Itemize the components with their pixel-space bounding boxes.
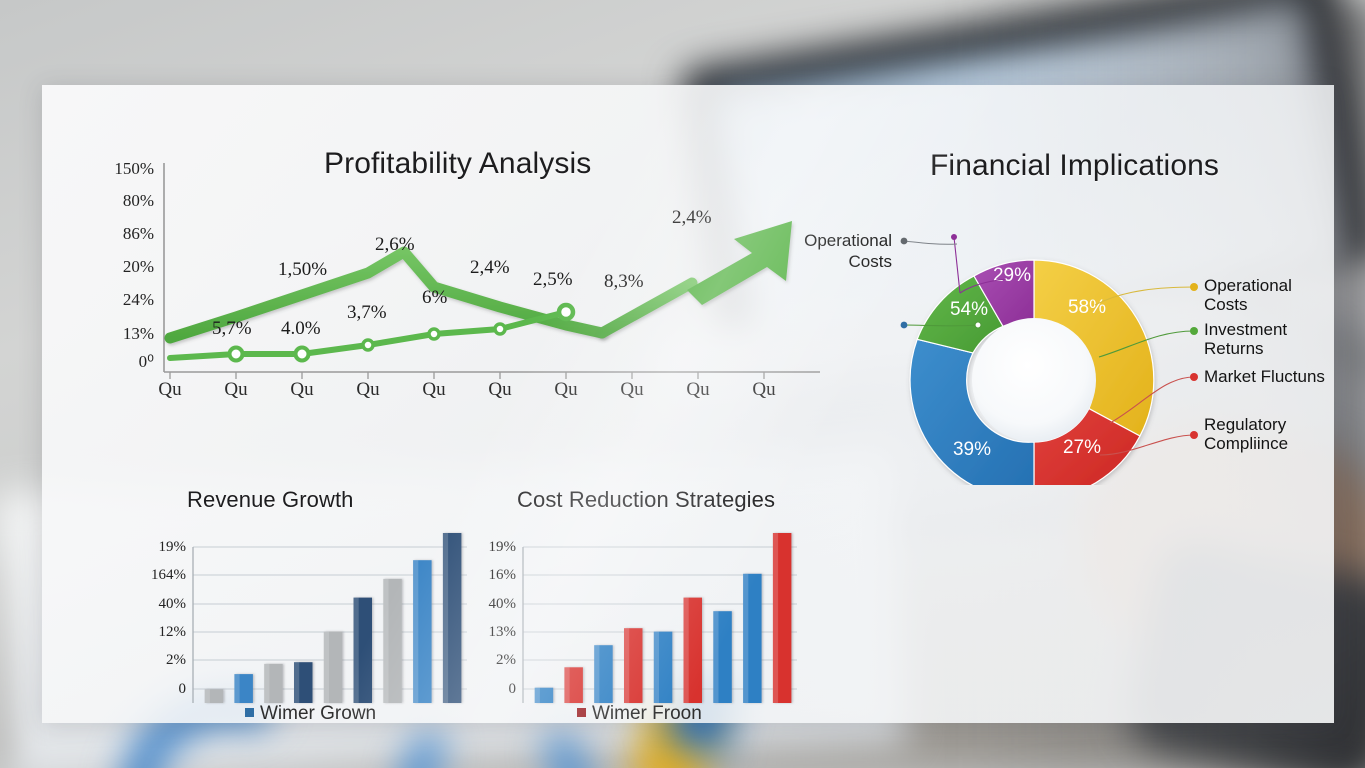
cost-reduction-bar-chart: Cost Reduction Strategies 19% 16% 40% 13…	[467, 485, 847, 725]
cost-reduction-plot-area	[467, 485, 847, 725]
cost-legend[interactable]: Wimer Froon	[577, 703, 702, 725]
cost-bar-highlight-2	[564, 667, 569, 703]
line-xtick-3: Qu	[344, 379, 392, 401]
revenue-bar-highlight-4	[294, 662, 299, 703]
revenue-bar-highlight-5	[324, 632, 329, 703]
donut-legend-label-1b: Costs	[1204, 295, 1247, 314]
cost-bars	[535, 533, 792, 703]
donut-callout-line1: Operational	[804, 231, 892, 250]
revenue-legend-swatch	[245, 708, 254, 717]
revenue-bar-highlight-8	[413, 560, 418, 703]
revenue-growth-plot-area	[137, 485, 517, 725]
revenue-bar-highlight-3	[264, 664, 269, 703]
revenue-growth-bar-chart: Revenue Growth 19% 164% 40% 12% 2% 0	[137, 485, 517, 725]
line-xtick-4: Qu	[410, 379, 458, 401]
line-xtick-5: Qu	[476, 379, 524, 401]
donut-legend-label-4a: Regulatory	[1204, 415, 1286, 434]
line-xtick-7: Qu	[608, 379, 656, 401]
line-xtick-8: Qu	[674, 379, 722, 401]
line-point-label-1-50: 1,50%	[278, 259, 327, 281]
donut-legend-label-2b: Returns	[1204, 339, 1264, 358]
line-xtick-2: Qu	[278, 379, 326, 401]
cost-bar-highlight-8	[743, 574, 748, 703]
revenue-bar-highlight-1	[205, 689, 210, 703]
financial-implications-donut-chart: Financial Implications	[842, 135, 1322, 485]
cost-bar-highlight-5	[654, 632, 659, 703]
cost-bar-highlight-9	[773, 533, 778, 703]
donut-legend-label-3a: Market Fluctuns	[1204, 367, 1325, 386]
donut-legend-label-2a: Investment	[1204, 320, 1287, 339]
revenue-bar-highlight-9	[443, 533, 448, 703]
line-point-label-8-3: 8,3%	[604, 271, 644, 293]
line-point-label-6: 6%	[422, 287, 447, 309]
donut-legend-item-investment-returns[interactable]: Investment Returns	[1204, 320, 1287, 358]
line-xtick-9: Qu	[740, 379, 788, 401]
line-xtick-6: Qu	[542, 379, 590, 401]
revenue-bar-highlight-6	[354, 598, 359, 703]
donut-value-39: 39%	[953, 439, 991, 460]
slide-canvas: Profitability Analysis 150% 80% 86% 20% …	[42, 85, 1334, 723]
donut-callout-line2: Costs	[849, 252, 892, 271]
revenue-legend-label: Wimer Grown	[260, 703, 376, 724]
donut-value-54: 54%	[950, 299, 988, 320]
donut-legend-label-1a: Operational	[1204, 276, 1292, 295]
line-point-label-3-7: 3,7%	[347, 302, 387, 324]
revenue-legend[interactable]: Wimer Grown	[245, 703, 376, 725]
cost-legend-label: Wimer Froon	[592, 703, 702, 724]
donut-legend-item-market-fluctuns[interactable]: Market Fluctuns	[1204, 367, 1325, 386]
donut-value-29: 29%	[993, 265, 1031, 286]
line-point-label-2-4-a: 2,4%	[470, 257, 510, 279]
donut-hole	[972, 318, 1096, 442]
donut-legend-item-operational-costs[interactable]: Operational Costs	[1204, 276, 1292, 314]
revenue-bar-highlight-2	[234, 674, 239, 703]
donut-legend-label-4b: Compliince	[1204, 434, 1288, 453]
donut-callout-operational-costs: Operational Costs	[722, 230, 892, 272]
donut-value-58: 58%	[1068, 297, 1106, 318]
line-point-label-2-4-b: 2,4%	[672, 207, 712, 229]
cost-bar-highlight-1	[535, 688, 540, 703]
cost-bar-highlight-7	[713, 611, 718, 703]
cost-legend-swatch	[577, 708, 586, 717]
line-point-label-2-5: 2,5%	[533, 269, 573, 291]
cost-bar-highlight-4	[624, 628, 629, 703]
cost-bar-highlight-3	[594, 645, 599, 703]
line-xtick-0: Qu	[146, 379, 194, 401]
line-point-label-2-6: 2,6%	[375, 234, 415, 256]
line-point-label-5-7: 5,7%	[212, 318, 252, 340]
donut-legend-item-regulatory-compliince[interactable]: Regulatory Compliince	[1204, 415, 1288, 453]
donut-value-27: 27%	[1063, 437, 1101, 458]
line-chart-x-ticks	[170, 372, 764, 379]
line-xtick-1: Qu	[212, 379, 260, 401]
profitability-plot-area	[92, 135, 832, 485]
cost-bar-highlight-6	[684, 598, 689, 703]
revenue-bar-highlight-7	[383, 579, 388, 703]
revenue-bars	[205, 533, 462, 703]
line-point-label-4-0: 4.0%	[281, 318, 321, 340]
profitability-line-chart: Profitability Analysis 150% 80% 86% 20% …	[92, 135, 832, 485]
